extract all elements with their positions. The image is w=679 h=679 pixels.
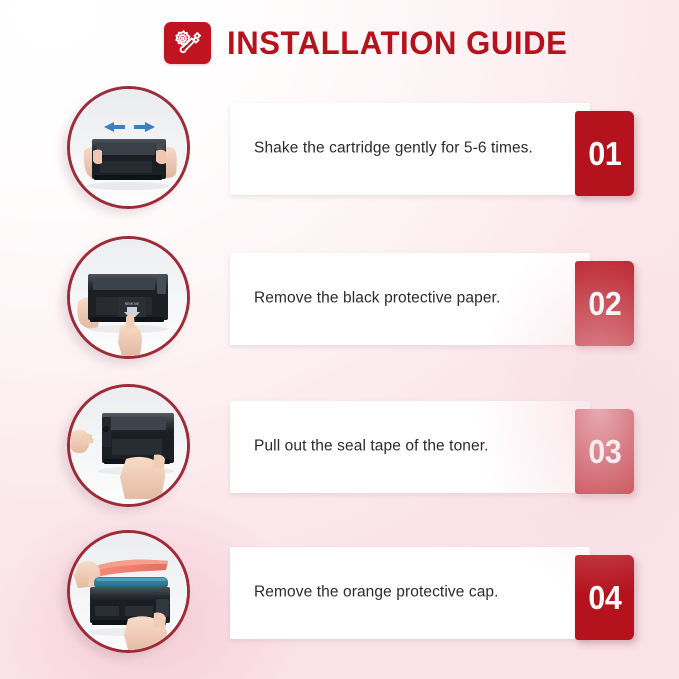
svg-text:REMOVE: REMOVE bbox=[125, 302, 140, 306]
step-number: 02 bbox=[588, 287, 621, 320]
step-row: Remove the orange protective cap. 04 bbox=[0, 522, 679, 672]
step-text: Shake the cartridge gently for 5-6 times… bbox=[254, 139, 576, 160]
step-text-bar: Remove the black protective paper. bbox=[230, 253, 590, 345]
step-number: 04 bbox=[588, 581, 621, 614]
step-text-bar: Pull out the seal tape of the toner. bbox=[230, 401, 590, 493]
header: INSTALLATION GUIDE bbox=[164, 22, 578, 64]
step-number: 03 bbox=[588, 435, 621, 468]
step-number: 01 bbox=[588, 137, 621, 170]
step-image-02: REMOVE bbox=[67, 236, 190, 359]
step-number-badge: 02 bbox=[575, 261, 634, 346]
gear-wrench-icon bbox=[164, 22, 211, 64]
step-text: Pull out the seal tape of the toner. bbox=[254, 437, 576, 458]
step-text-bar: Remove the orange protective cap. bbox=[230, 547, 590, 639]
step-text: Remove the black protective paper. bbox=[254, 289, 576, 310]
step-text: Remove the orange protective cap. bbox=[254, 583, 576, 604]
installation-guide-infographic: INSTALLATION GUIDE bbox=[0, 0, 679, 679]
step-number-badge: 04 bbox=[575, 555, 634, 640]
page-title: INSTALLATION GUIDE bbox=[227, 27, 567, 59]
step-row: REMOVE Remove the black protective paper… bbox=[0, 228, 679, 378]
step-row: Pull out the seal tape of the toner. 03 bbox=[0, 376, 679, 526]
step-image-01 bbox=[67, 86, 190, 209]
step-row: Shake the cartridge gently for 5-6 times… bbox=[0, 78, 679, 228]
step-number-badge: 01 bbox=[575, 111, 634, 196]
step-text-bar: Shake the cartridge gently for 5-6 times… bbox=[230, 103, 590, 195]
step-number-badge: 03 bbox=[575, 409, 634, 494]
step-image-04 bbox=[67, 530, 190, 653]
step-image-03 bbox=[67, 384, 190, 507]
